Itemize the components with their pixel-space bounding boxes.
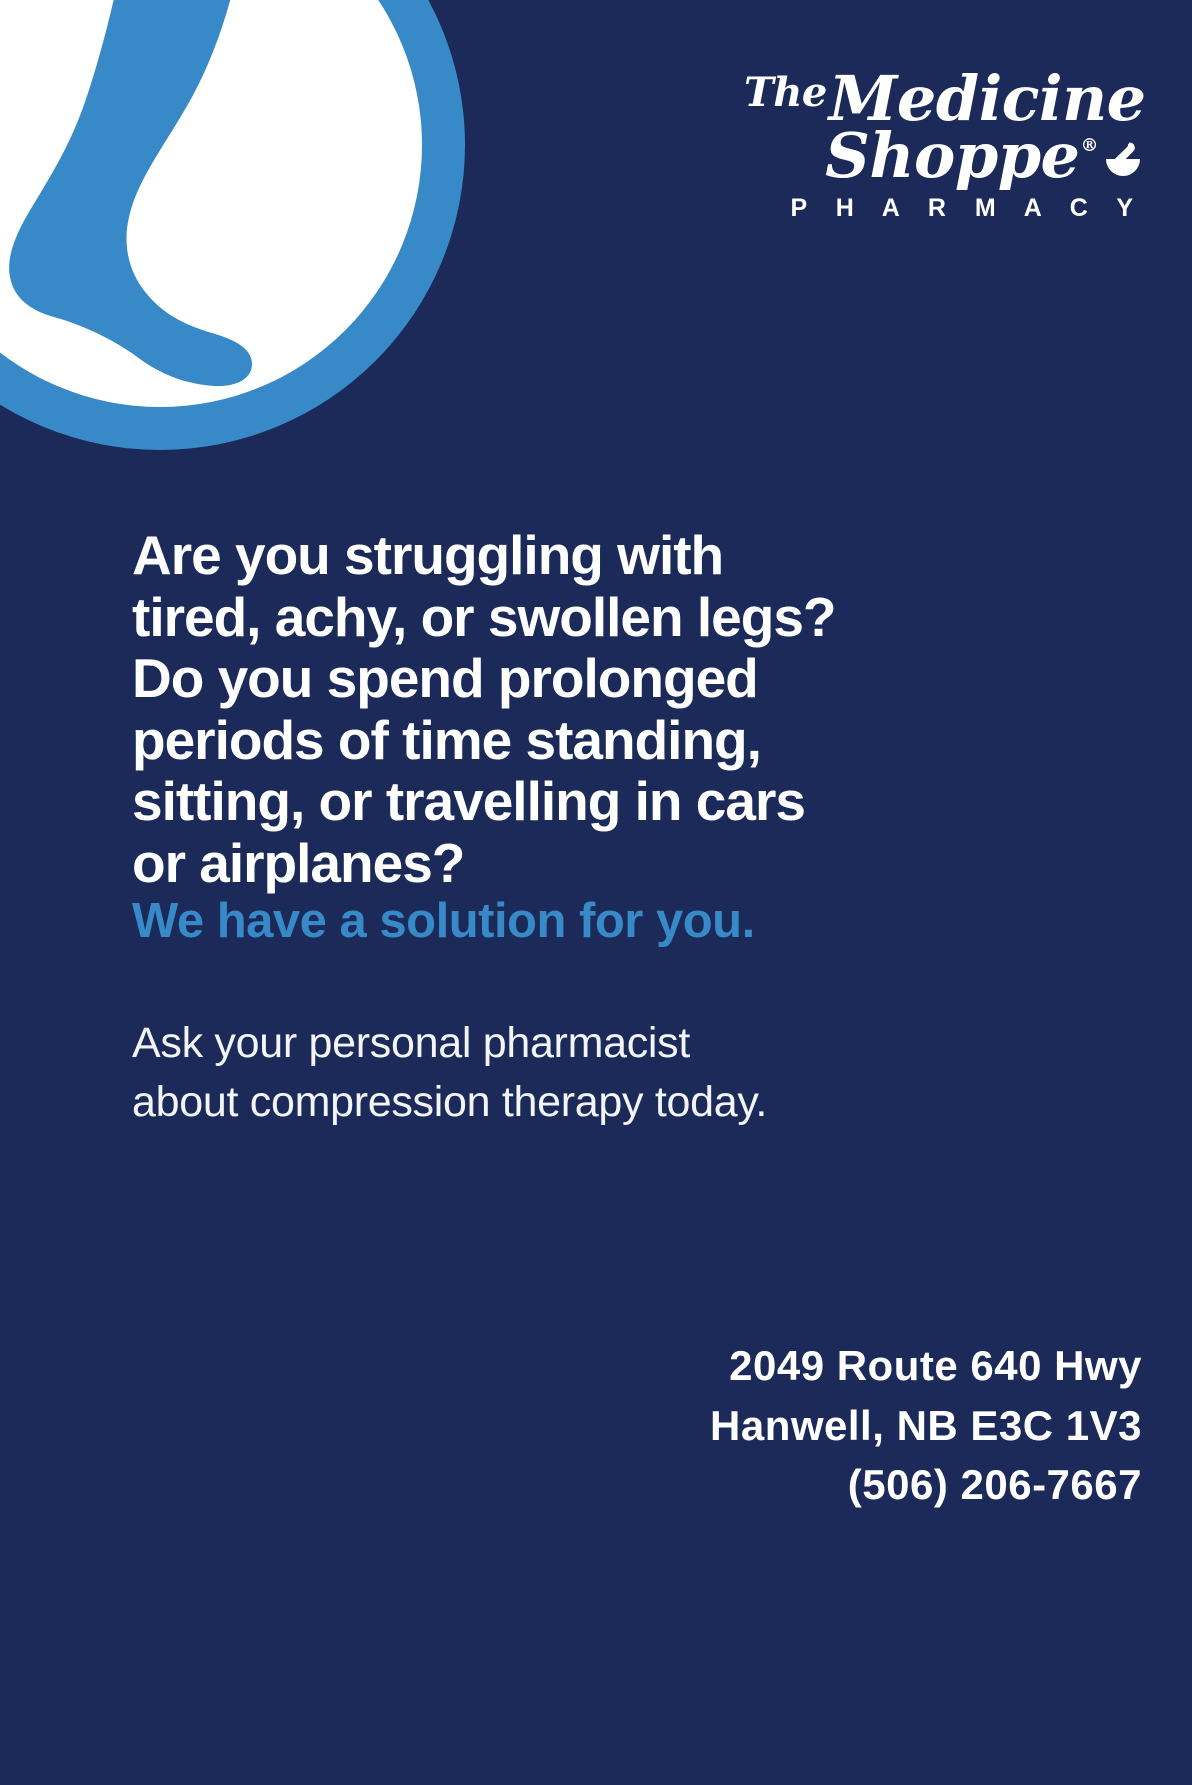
mortar-and-pestle-icon [1102,139,1144,181]
tagline: We have a solution for you. [132,895,1142,949]
headline-secondary-line-4: or airplanes? [132,833,1142,895]
leg-in-compression-stocking-icon [0,0,480,465]
brand-logo-line-2: Shoppe® [744,127,1144,184]
store-phone-number[interactable]: (506) 206-7667 [710,1455,1142,1515]
brand-logo: TheMedicine Shoppe® P H A R M A C Y [744,70,1144,223]
headline-secondary-line-3: sitting, or travelling in cars [132,771,1142,833]
body-copy: Ask your personal pharmacist about compr… [132,1014,1142,1130]
headline-primary: Are you struggling with tired, achy, or … [132,525,1142,648]
headline-secondary: Do you spend prolonged periods of time s… [132,648,1142,894]
registered-trademark-icon: ® [1081,135,1099,156]
headline-secondary-line-1: Do you spend prolonged [132,648,1142,710]
store-address-block: 2049 Route 640 Hwy Hanwell, NB E3C 1V3 (… [710,1336,1142,1515]
body-copy-line-2: about compression therapy today. [132,1073,1142,1131]
headline-secondary-line-2: periods of time standing, [132,710,1142,772]
poster-content: Are you struggling with tired, achy, or … [132,525,1142,1131]
body-copy-line-1: Ask your personal pharmacist [132,1014,1142,1072]
address-city-region: Hanwell, NB E3C 1V3 [710,1396,1142,1456]
brand-logo-the: The [744,69,829,116]
brand-logo-subtitle: P H A R M A C Y [744,194,1144,223]
poster-canvas: TheMedicine Shoppe® P H A R M A C Y Are … [0,0,1192,1785]
headline-primary-line-2: tired, achy, or swollen legs? [132,587,1142,649]
address-street: 2049 Route 640 Hwy [710,1336,1142,1396]
headline-primary-line-1: Are you struggling with [132,525,1142,587]
brand-logo-shoppe: Shoppe [825,119,1079,192]
